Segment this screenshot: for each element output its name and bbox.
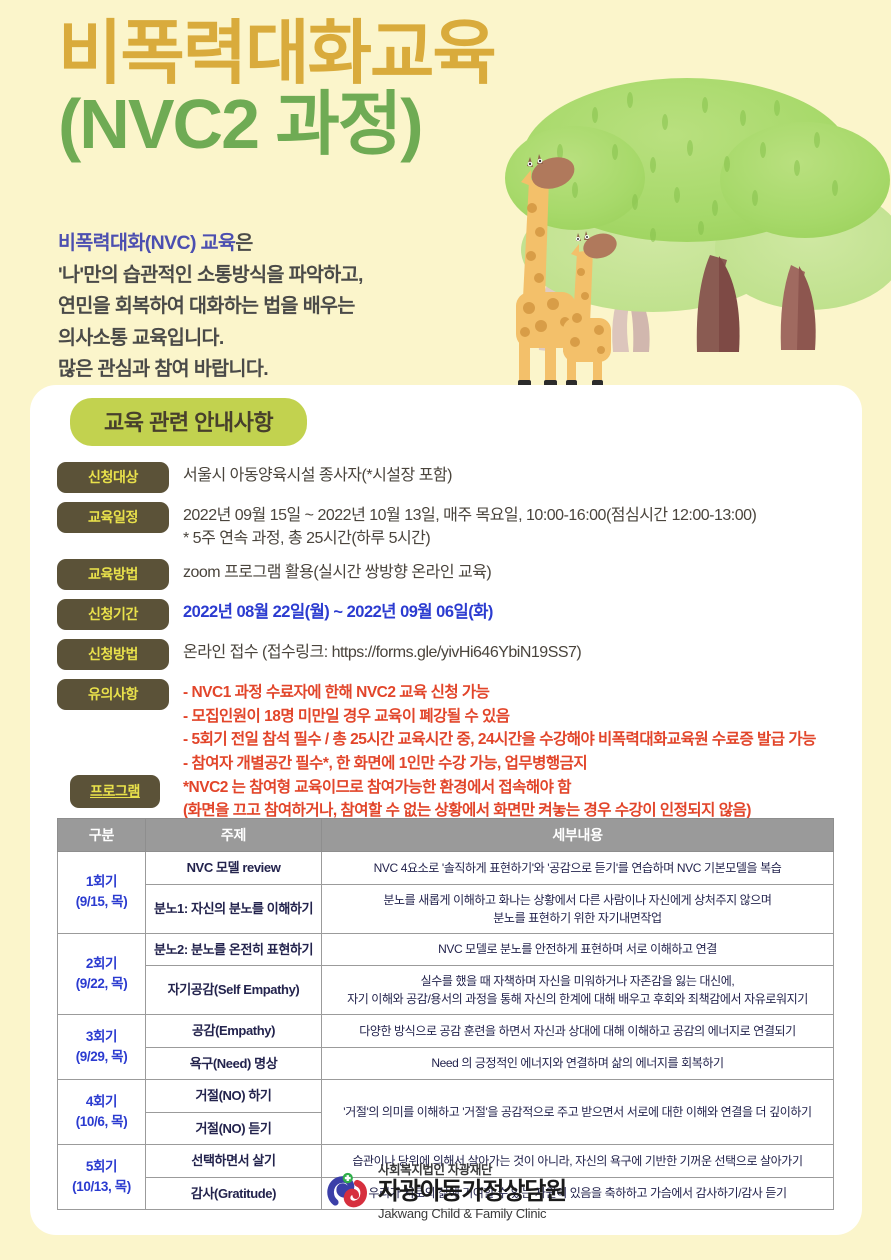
info-row-value: zoom 프로그램 활용(실시간 쌍방향 온라인 교육) [183,559,491,584]
detail-cell: Need 의 긍정적인 에너지와 연결하며 삶의 에너지를 회복하기 [322,1047,834,1080]
info-row: 교육방법zoom 프로그램 활용(실시간 쌍방향 온라인 교육) [57,559,877,590]
subtitle-line-3: 연민을 회복하여 대화하는 법을 배우는 [58,291,538,323]
topic-cell: 자기공감(Self Empathy) [146,966,322,1015]
table-row: 4회기(10/6, 목)거절(NO) 하기'거절'의 의미를 이해하고 '거절'… [58,1080,834,1113]
jakwang-logo-icon [325,1170,369,1214]
tree-canopy-right [720,122,890,238]
detail-cell: 실수를 했을 때 자책하며 자신을 미워하거나 자존감을 잃는 대신에,자기 이… [322,966,834,1015]
topic-cell: 욕구(Need) 명상 [146,1047,322,1080]
detail-cell: 분노를 새롭게 이해하고 화나는 상황에서 다른 사람이나 자신에게 상처주지 … [322,884,834,933]
subtitle-highlight: 비폭력대화(NVC) 교육 [58,232,235,254]
info-row-value: 서울시 아동양육시설 종사자(*시설장 포함) [183,462,452,487]
footer-logo-block: 사회복지법인 자광재단 자광아동가정상담원 Jakwang Child & Fa… [0,1163,891,1221]
subtitle-line-2: '나'만의 습관적인 소통방식을 파악하고, [58,260,538,292]
program-table-header-row: 구분 주제 세부내용 [58,819,834,852]
info-row-label: 신청기간 [57,599,169,630]
detail-cell: NVC 모델로 분노를 안전하게 표현하며 서로 이해하고 연결 [322,933,834,966]
info-row: 신청대상서울시 아동양육시설 종사자(*시설장 포함) [57,462,877,493]
poster-title: 비폭력대화교육 (NVC2 과정) [58,18,678,162]
table-row: 분노1: 자신의 분노를 이해하기분노를 새롭게 이해하고 화나는 상황에서 다… [58,884,834,933]
topic-cell: 거절(NO) 듣기 [146,1112,322,1145]
subtitle-line-1: 비폭력대화(NVC) 교육은 [58,228,538,260]
detail-cell: NVC 4요소로 '솔직하게 표현하기'와 '공감으로 듣기'를 연습하며 NV… [322,852,834,885]
info-row: 신청방법온라인 접수 (접수링크: https://forms.gle/yivH… [57,639,877,670]
session-cell: 4회기(10/6, 목) [58,1080,146,1145]
logo-org-english: Jakwang Child & Family Clinic [378,1206,566,1221]
column-header-division: 구분 [58,819,146,852]
subtitle-line-5: 많은 관심과 참여 바랍니다. [58,354,538,386]
topic-cell: 분노2: 분노를 온전히 표현하기 [146,933,322,966]
program-table: 구분 주제 세부내용 1회기(9/15, 목)NVC 모델 reviewNVC … [57,818,834,1210]
poster-subtitle: 비폭력대화(NVC) 교육은 '나'만의 습관적인 소통방식을 파악하고, 연민… [58,228,538,386]
table-row: 자기공감(Self Empathy)실수를 했을 때 자책하며 자신을 미워하거… [58,966,834,1015]
detail-cell: 다양한 방식으로 공감 훈련을 하면서 자신과 상대에 대해 이해하고 공감의 … [322,1015,834,1048]
column-header-topic: 주제 [146,819,322,852]
column-header-detail: 세부내용 [322,819,834,852]
topic-cell: 분노1: 자신의 분노를 이해하기 [146,884,322,933]
topic-cell: NVC 모델 review [146,852,322,885]
table-row: 3회기(9/29, 목)공감(Empathy)다양한 방식으로 공감 훈련을 하… [58,1015,834,1048]
topic-cell: 공감(Empathy) [146,1015,322,1048]
program-table-head: 구분 주제 세부내용 [58,819,834,852]
table-row: 욕구(Need) 명상Need 의 긍정적인 에너지와 연결하며 삶의 에너지를… [58,1047,834,1080]
session-cell: 3회기(9/29, 목) [58,1015,146,1080]
logo-org-prefix: 사회복지법인 자광재단 [378,1163,566,1178]
logo-text-block: 사회복지법인 자광재단 자광아동가정상담원 Jakwang Child & Fa… [378,1163,566,1221]
info-row-label: 신청대상 [57,462,169,493]
info-row-value: - NVC1 과정 수료자에 한해 NVC2 교육 신청 가능 - 모집인원이 … [183,679,816,822]
info-row-label: 교육방법 [57,559,169,590]
topic-cell: 거절(NO) 하기 [146,1080,322,1113]
subtitle-suffix: 은 [235,232,252,254]
info-row-value: 2022년 08월 22일(월) ~ 2022년 09월 06일(화) [183,599,493,625]
session-cell: 1회기(9/15, 목) [58,852,146,934]
logo-org-name: 자광아동가정상담원 [378,1178,566,1206]
program-pill-label: 프로그램 [90,783,140,799]
info-row-value[interactable]: 온라인 접수 (접수링크: https://forms.gle/yivHi646… [183,639,581,664]
title-line-1: 비폭력대화교육 [58,18,678,88]
title-line-2: (NVC2 과정) [58,88,678,162]
subtitle-line-4: 의사소통 교육입니다. [58,323,538,355]
info-row: 유의사항- NVC1 과정 수료자에 한해 NVC2 교육 신청 가능 - 모집… [57,679,877,822]
detail-cell: '거절'의 의미를 이해하고 '거절'을 공감적으로 주고 받으면서 서로에 대… [322,1080,834,1145]
info-row: 신청기간2022년 08월 22일(월) ~ 2022년 09월 06일(화) [57,599,877,630]
info-row-value: 2022년 09월 15일 ~ 2022년 10월 13일, 매주 목요일, 1… [183,502,756,550]
section-header-pill: 교육 관련 안내사항 [70,398,307,446]
info-row: 교육일정2022년 09월 15일 ~ 2022년 10월 13일, 매주 목요… [57,502,877,550]
table-row: 1회기(9/15, 목)NVC 모델 reviewNVC 4요소로 '솔직하게 … [58,852,834,885]
info-row-list: 신청대상서울시 아동양육시설 종사자(*시설장 포함)교육일정2022년 09월… [57,462,877,832]
info-row-label: 유의사항 [57,679,169,710]
table-row: 2회기(9/22, 목)분노2: 분노를 온전히 표현하기NVC 모델로 분노를… [58,933,834,966]
program-table-body: 1회기(9/15, 목)NVC 모델 reviewNVC 4요소로 '솔직하게 … [58,852,834,1210]
program-pill: 프로그램 [70,775,160,808]
info-row-label: 신청방법 [57,639,169,670]
info-row-label: 교육일정 [57,502,169,533]
poster-root: 비폭력대화교육 (NVC2 과정) 비폭력대화(NVC) 교육은 '나'만의 습… [0,0,891,1260]
session-cell: 2회기(9/22, 목) [58,933,146,1015]
